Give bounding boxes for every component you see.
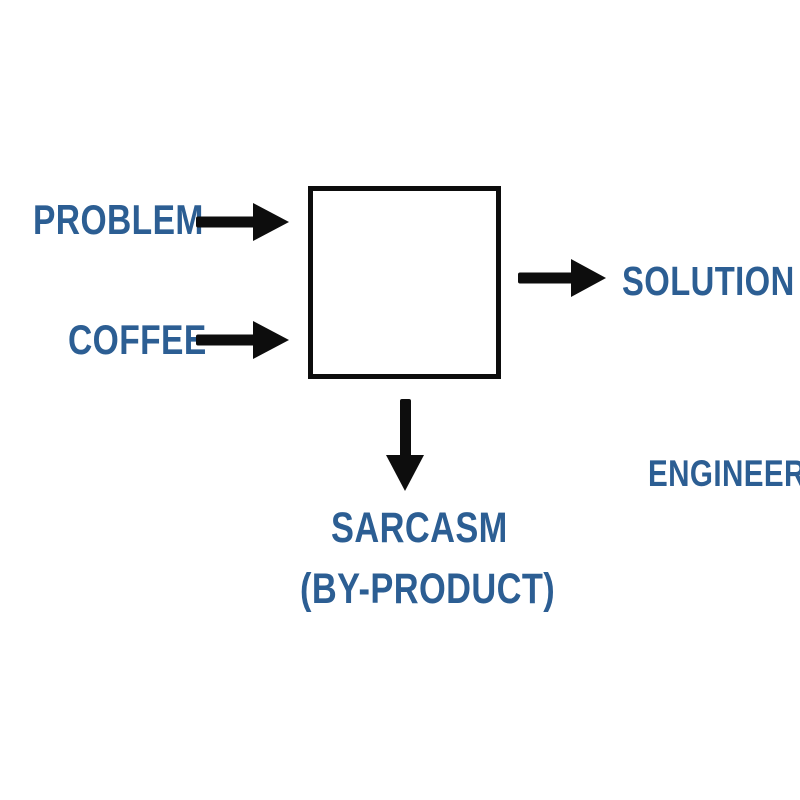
arrow-down-engineer-to-sarcasm	[386, 399, 424, 491]
diagram-canvas: PROBLEM COFFEE ENGINEER SOLUTION SARCASM…	[0, 0, 800, 800]
input-label-problem: PROBLEM	[33, 199, 204, 241]
arrow-layer	[0, 0, 800, 800]
process-box-label: ENGINEER	[648, 455, 800, 492]
process-box-engineer: ENGINEER	[308, 186, 501, 379]
arrow-right-coffee-to-engineer	[196, 321, 289, 359]
arrow-right-problem-to-engineer	[196, 203, 289, 241]
output-label-solution: SOLUTION	[622, 261, 795, 302]
byproduct-label-sarcasm: SARCASM	[331, 507, 508, 550]
byproduct-sublabel: (BY-PRODUCT)	[300, 568, 555, 611]
input-label-coffee: COFFEE	[68, 319, 207, 361]
arrow-right-engineer-to-solution	[518, 259, 606, 297]
